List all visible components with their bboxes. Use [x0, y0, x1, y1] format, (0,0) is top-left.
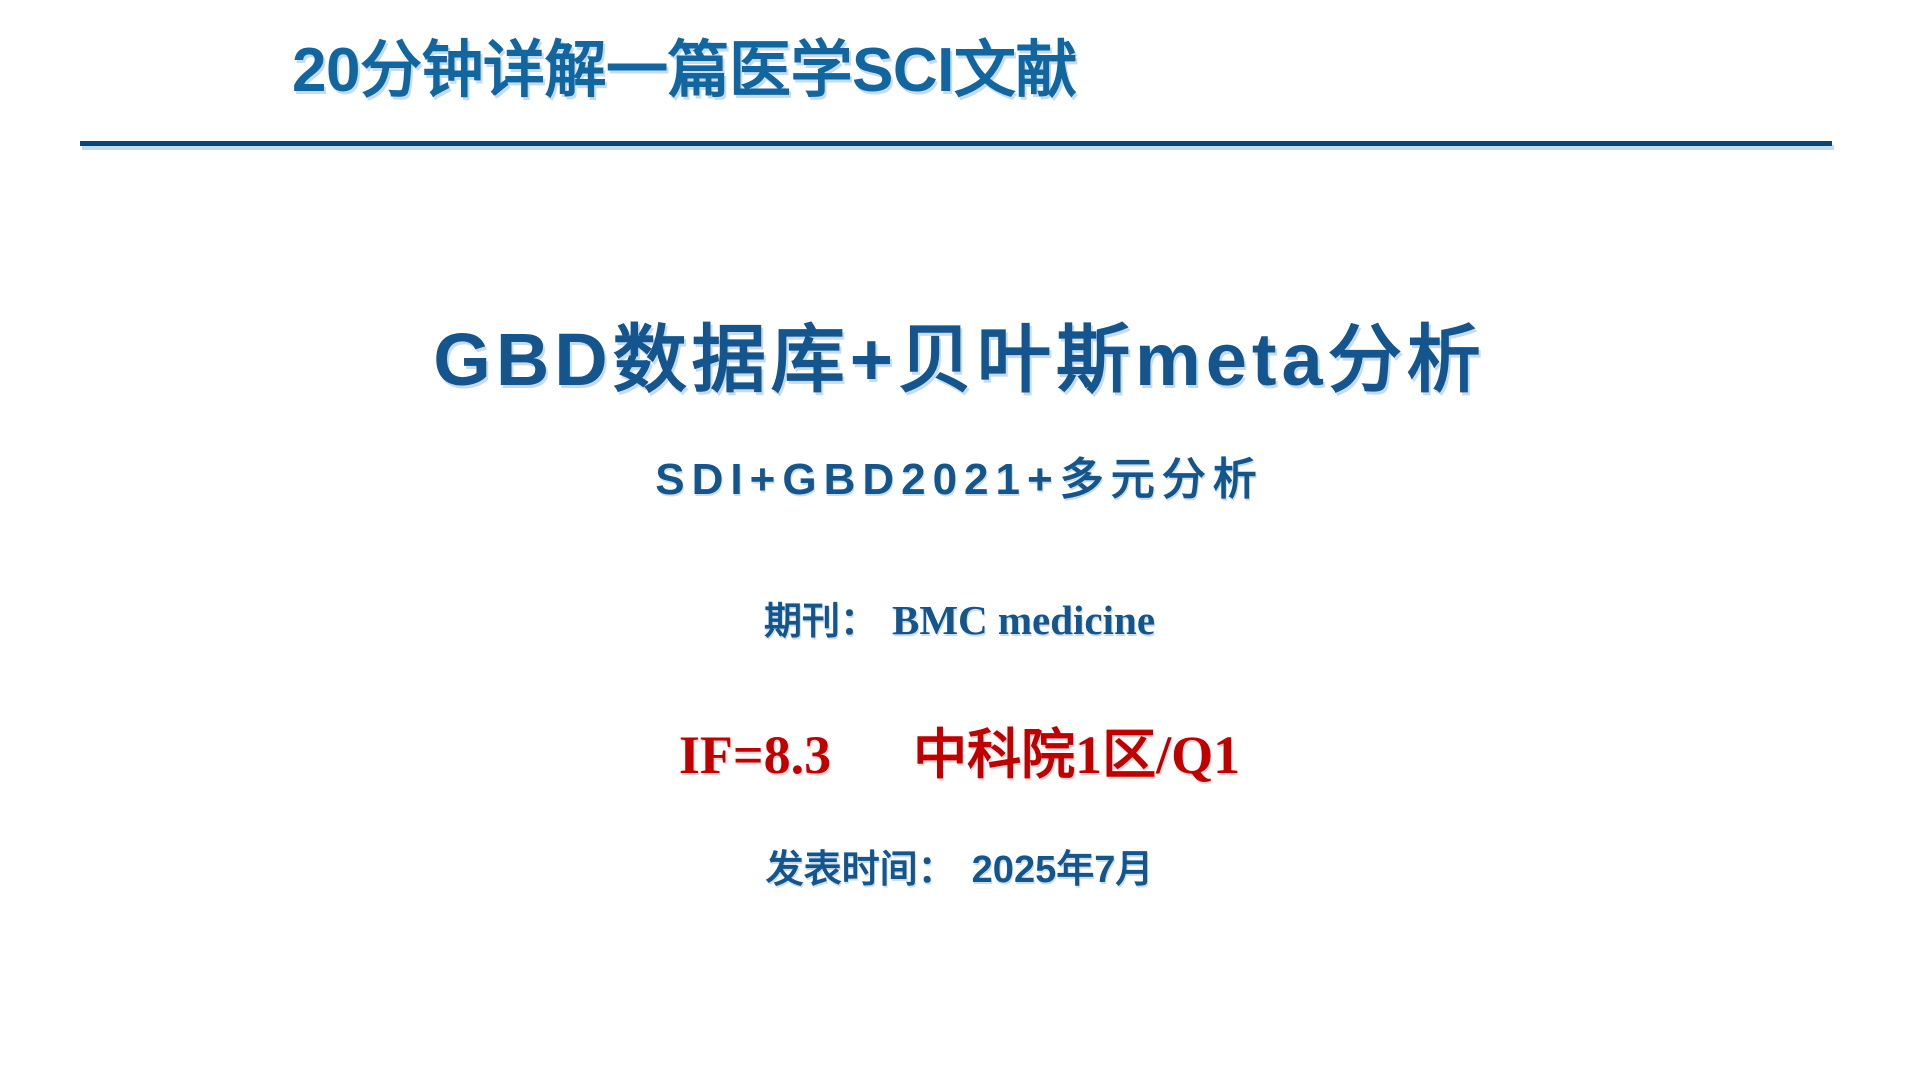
metrics-line: IF=8.3中科院1区/Q1 [0, 710, 1919, 789]
presentation-slide: 20分钟详解一篇医学SCI文献 GBD数据库+贝叶斯meta分析 SDI+GBD… [0, 0, 1919, 1079]
publication-date-label: 发表时间： [766, 849, 956, 891]
main-title: GBD数据库+贝叶斯meta分析 [0, 300, 1919, 407]
publication-date-line: 发表时间：2025年7月 [0, 838, 1919, 893]
journal-name: BMC medicine [892, 597, 1155, 643]
journal-line: 期刊：BMC medicine [0, 590, 1919, 645]
journal-label: 期刊： [764, 601, 878, 643]
ranking-suffix: 1区/Q1 [1075, 725, 1240, 785]
header-divider-rule [80, 141, 1832, 146]
ranking-prefix: 中科院 [913, 725, 1075, 785]
ranking-badge: 中科院1区/Q1 [913, 725, 1240, 785]
impact-factor-value: IF=8.3 [679, 725, 831, 785]
sub-title: SDI+GBD2021+多元分析 [0, 443, 1919, 507]
publication-date-value: 2025年7月 [972, 849, 1154, 891]
slide-header-title: 20分钟详解一篇医学SCI文献 [292, 38, 1077, 103]
